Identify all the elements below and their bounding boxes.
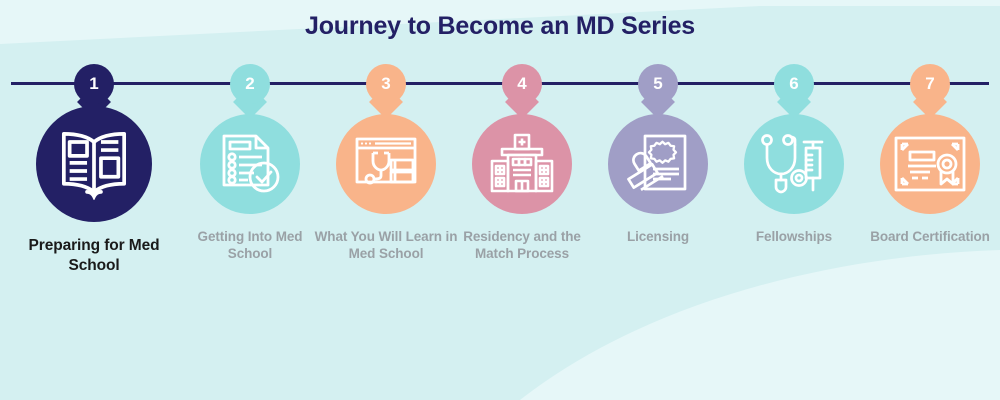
step-marker-7[interactable]: 7 [910, 64, 950, 112]
certificate-award-icon [894, 136, 966, 192]
step-icon-bubble-5[interactable] [608, 114, 708, 214]
step-icon-bubble-4[interactable] [472, 114, 572, 214]
step-number-1: 1 [74, 64, 114, 104]
step-marker-5[interactable]: 5 [638, 64, 678, 112]
step-label-1: Preparing for Med School [9, 236, 179, 276]
step-marker-3[interactable]: 3 [366, 64, 406, 112]
page-title: Journey to Become an MD Series [0, 12, 1000, 41]
step-icon-bubble-1[interactable] [36, 106, 152, 222]
step-label-2: Getting Into Med School [175, 228, 325, 263]
hospital-building-icon [488, 133, 556, 195]
step-icon-bubble-2[interactable] [200, 114, 300, 214]
step-number-4: 4 [502, 64, 542, 104]
step-icon-bubble-6[interactable] [744, 114, 844, 214]
step-marker-6[interactable]: 6 [774, 64, 814, 112]
step-label-6: Fellowships [719, 228, 869, 245]
browser-stethoscope-books-icon [353, 134, 419, 194]
step-icon-bubble-7[interactable] [880, 114, 980, 214]
infographic-canvas: Journey to Become an MD Series 1 [0, 0, 1000, 400]
step-label-7: Board Certification [855, 228, 1000, 245]
step-marker-1[interactable]: 1 [74, 64, 114, 112]
step-label-5: Licensing [583, 228, 733, 245]
step-marker-4[interactable]: 4 [502, 64, 542, 112]
step-label-4: Residency and the Match Process [447, 228, 597, 263]
step-number-2: 2 [230, 64, 270, 104]
stethoscope-syringe-icon [760, 132, 828, 196]
step-marker-2[interactable]: 2 [230, 64, 270, 112]
checklist-document-check-icon [218, 133, 282, 195]
step-label-3: What You Will Learn in Med School [311, 228, 461, 263]
timeline-steps: 1 Preparing for Med School [0, 0, 1000, 400]
license-stamp-icon [625, 133, 691, 195]
step-number-7: 7 [910, 64, 950, 104]
open-book-icon [52, 128, 136, 200]
step-number-6: 6 [774, 64, 814, 104]
step-number-5: 5 [638, 64, 678, 104]
step-icon-bubble-3[interactable] [336, 114, 436, 214]
step-number-3: 3 [366, 64, 406, 104]
